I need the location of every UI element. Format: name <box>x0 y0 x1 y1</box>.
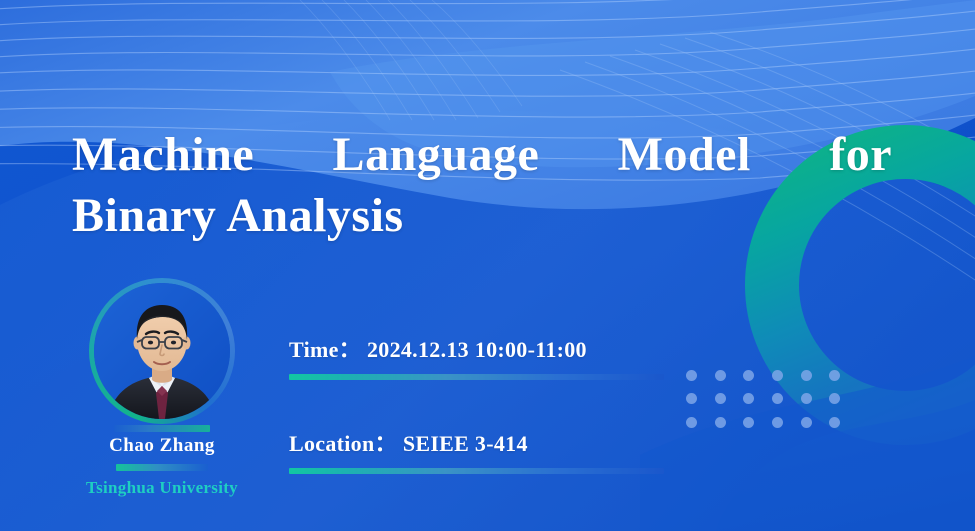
time-row: Time：2024.12.13 10:00-11:00 <box>289 332 669 380</box>
time-underline <box>289 374 664 380</box>
grid-dot <box>715 417 726 428</box>
grid-dot <box>686 417 697 428</box>
seminar-poster: Machine Language Model for Binary Analys… <box>0 0 975 531</box>
grid-dot <box>772 393 783 404</box>
title-line-1: Machine Language Model for <box>72 124 892 185</box>
grid-dot <box>743 417 754 428</box>
location-value: SEIEE 3-414 <box>403 431 528 456</box>
grid-dot <box>715 393 726 404</box>
grid-dot <box>772 417 783 428</box>
speaker-block: Chao Zhang Tsinghua University <box>63 278 261 498</box>
title-line-2: Binary Analysis <box>72 185 892 246</box>
grid-dot <box>801 370 812 381</box>
location-row: Location：SEIEE 3-414 <box>289 426 669 474</box>
grid-dot <box>801 393 812 404</box>
avatar-ring <box>89 278 235 424</box>
info-block: Time：2024.12.13 10:00-11:00 Location：SEI… <box>289 332 669 474</box>
location-label: Location： <box>289 431 397 456</box>
speaker-affiliation: Tsinghua University <box>63 477 261 498</box>
grid-dot <box>743 370 754 381</box>
grid-dot <box>829 393 840 404</box>
time-text: Time：2024.12.13 10:00-11:00 <box>289 332 669 364</box>
grid-dot <box>743 393 754 404</box>
grid-dot <box>772 370 783 381</box>
poster-title: Machine Language Model for Binary Analys… <box>72 124 892 247</box>
grid-dot <box>686 393 697 404</box>
grid-dot <box>686 370 697 381</box>
grid-dot <box>829 417 840 428</box>
portrait-photo <box>94 283 230 419</box>
location-underline <box>289 468 664 474</box>
dot-grid-decoration <box>686 370 858 440</box>
avatar <box>94 283 230 419</box>
grid-dot <box>829 370 840 381</box>
time-label: Time： <box>289 337 361 362</box>
speaker-divider-bottom <box>116 464 208 471</box>
grid-dot <box>801 417 812 428</box>
time-value: 2024.12.13 10:00-11:00 <box>367 337 587 362</box>
grid-dot <box>715 370 726 381</box>
location-text: Location：SEIEE 3-414 <box>289 426 669 458</box>
speaker-divider-top <box>114 425 210 432</box>
speaker-name: Chao Zhang <box>63 434 261 458</box>
